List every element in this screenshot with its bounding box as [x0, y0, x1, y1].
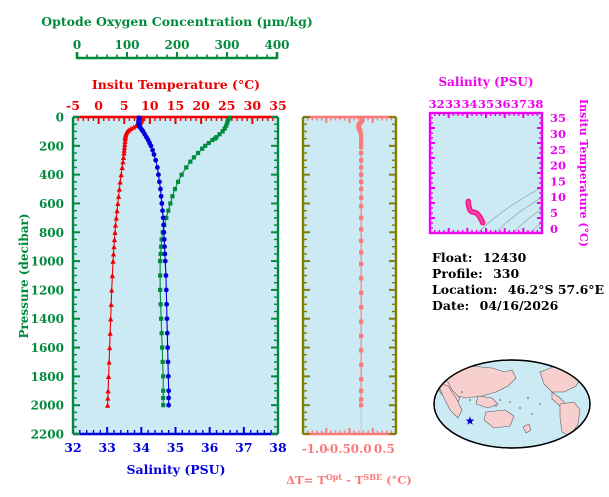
- pressure-axis-label: Pressure (decibar): [17, 213, 31, 338]
- map-island: [461, 391, 463, 393]
- float-value: 12430: [483, 250, 527, 265]
- ts-y-tick-label: 35: [550, 111, 566, 125]
- delta-marker: [359, 196, 363, 200]
- temperature-tick-label: 15: [167, 98, 184, 113]
- salinity-marker: [159, 194, 164, 199]
- map-island: [499, 399, 501, 401]
- delta-marker: [359, 216, 363, 220]
- oxygen-marker: [170, 194, 174, 198]
- profile-label: Profile:: [432, 266, 483, 281]
- oxygen-marker: [180, 173, 184, 177]
- ts-x-tick-label: 38: [527, 97, 543, 111]
- map-island: [539, 403, 541, 405]
- oxygen-marker: [158, 288, 162, 292]
- salinity-marker: [161, 230, 166, 235]
- ts-temperature-label: Insitu Temperature (°C): [577, 99, 590, 247]
- delta-marker: [359, 363, 363, 367]
- oxygen-tick-label: 400: [264, 38, 289, 52]
- oxygen-marker: [159, 252, 163, 256]
- pressure-tick-label: 1200: [31, 283, 64, 297]
- temperature-tick-label: 10: [141, 98, 159, 113]
- profile-value: 330: [493, 266, 519, 281]
- ts-y-tick-label: 20: [550, 159, 566, 173]
- delta-marker: [359, 320, 363, 324]
- salinity-marker: [162, 237, 167, 242]
- temperature-tick-label: 30: [244, 98, 262, 113]
- oxygen-marker: [210, 138, 214, 142]
- salinity-marker: [165, 331, 170, 336]
- oxygen-marker: [159, 317, 163, 321]
- ts-panel-background: [430, 113, 542, 233]
- ts-y-tick-label: 15: [550, 174, 566, 188]
- oxygen-marker: [160, 331, 164, 335]
- ts-y-tick-label: 30: [550, 127, 566, 141]
- salinity-tick-label: 34: [133, 440, 151, 455]
- main-panel-background: [73, 117, 278, 434]
- delta-marker: [359, 305, 363, 309]
- oxygen-marker: [161, 389, 165, 393]
- date-value: 04/16/2026: [480, 298, 559, 313]
- map-island: [469, 399, 471, 401]
- salinity-marker: [164, 273, 169, 278]
- map-island: [495, 405, 497, 407]
- ts-x-tick-label: 35: [478, 97, 494, 111]
- map-island: [531, 413, 533, 415]
- temperature-tick-label: 25: [218, 98, 235, 113]
- oxygen-marker: [160, 345, 164, 349]
- delta-marker: [359, 187, 363, 191]
- map-island: [519, 407, 521, 409]
- metadata-date-line: Date: 04/16/2026: [432, 298, 559, 313]
- oxygen-tick-label: 200: [164, 38, 189, 52]
- ts-x-tick-label: 32: [429, 97, 445, 111]
- salinity-marker: [164, 288, 169, 293]
- metadata-profile-line: Profile: 330: [432, 266, 519, 281]
- ts-x-tick-label: 36: [494, 97, 510, 111]
- delta-marker: [359, 334, 363, 338]
- date-label: Date:: [432, 298, 469, 313]
- salinity-marker: [152, 152, 157, 157]
- ts-x-tick-labels: 32333435363738: [429, 97, 544, 111]
- delta-marker: [359, 250, 363, 254]
- oxygen-marker: [158, 273, 162, 277]
- delta-marker: [359, 141, 363, 145]
- oxygen-tick-label: 0: [73, 38, 81, 52]
- salinity-tick-label: 36: [201, 440, 219, 455]
- delta-tick-label: -0.5: [325, 442, 351, 456]
- delta-marker: [359, 227, 363, 231]
- salinity-marker: [166, 396, 171, 401]
- temperature-tick-label: -5: [66, 98, 80, 113]
- salinity-marker: [150, 148, 155, 153]
- temperature-axis-label: Insitu Temperature (°C): [92, 77, 260, 92]
- delta-marker: [359, 262, 363, 266]
- salinity-marker: [157, 179, 162, 184]
- salinity-marker: [166, 388, 171, 393]
- delta-marker: [359, 145, 363, 149]
- temperature-tick-label: 5: [120, 98, 129, 113]
- salinity-marker: [165, 316, 170, 321]
- delta-tick-labels: -1.0-0.50.00.5: [302, 442, 395, 456]
- salinity-marker: [164, 302, 169, 307]
- salinity-marker: [153, 158, 158, 163]
- delta-marker: [359, 377, 363, 381]
- oxygen-marker: [184, 165, 188, 169]
- salinity-marker: [165, 345, 170, 350]
- profile-figure: Optode Oxygen Concentration (µm/kg) 0100…: [0, 0, 609, 497]
- salinity-marker: [161, 223, 166, 228]
- map-island: [527, 397, 529, 399]
- pressure-tick-label: 1400: [31, 312, 64, 326]
- salinity-marker: [158, 187, 163, 192]
- oxygen-marker: [173, 187, 177, 191]
- temperature-tick-label: 20: [192, 98, 210, 113]
- pressure-tick-label: 1800: [31, 370, 64, 384]
- ts-x-tick-label: 33: [445, 97, 461, 111]
- location-label: Location:: [432, 282, 497, 297]
- figure-canvas: Optode Oxygen Concentration (µm/kg) 0100…: [0, 0, 609, 497]
- metadata-location-line: Location: 46.2°S 57.6°E: [432, 282, 604, 297]
- delta-marker: [359, 137, 363, 141]
- pressure-tick-label: 1000: [31, 255, 64, 269]
- oxygen-marker: [161, 403, 165, 407]
- ts-y-tick-label: 25: [550, 143, 566, 157]
- temperature-tick-label: 35: [269, 98, 286, 113]
- oxygen-marker: [196, 151, 200, 155]
- salinity-tick-label: 35: [167, 440, 184, 455]
- oxygen-marker: [207, 141, 211, 145]
- salinity-marker: [163, 251, 168, 256]
- ts-x-tick-label: 34: [462, 97, 478, 111]
- delta-axis-label: ΔT= TOpt - TSBE (°C): [286, 472, 412, 487]
- oxygen-marker: [176, 180, 180, 184]
- oxygen-axis-label: Optode Oxygen Concentration (µm/kg): [41, 14, 312, 29]
- salinity-marker: [156, 172, 161, 177]
- oxygen-marker: [161, 396, 165, 400]
- pressure-tick-label: 1600: [31, 341, 64, 355]
- delta-panel-background: [303, 117, 396, 434]
- ts-x-tick-label: 37: [511, 97, 527, 111]
- oxygen-tick-label: 300: [214, 38, 239, 52]
- salinity-tick-label: 33: [98, 440, 115, 455]
- map-island: [509, 401, 511, 403]
- salinity-marker: [160, 208, 165, 213]
- delta-tick-label: 0.5: [374, 442, 395, 456]
- salinity-marker: [166, 374, 171, 379]
- location-value: 46.2°S 57.6°E: [508, 282, 604, 297]
- ts-y-tick-label: 5: [550, 206, 558, 220]
- delta-marker: [359, 397, 363, 401]
- salinity-marker: [163, 259, 168, 264]
- delta-marker: [359, 239, 363, 243]
- oxygen-marker: [159, 302, 163, 306]
- oxygen-marker: [192, 155, 196, 159]
- pressure-tick-label: 400: [39, 168, 64, 182]
- delta-marker: [359, 151, 363, 155]
- oxygen-tick-label: 100: [114, 38, 139, 52]
- delta-marker: [359, 158, 363, 162]
- oxygen-marker: [200, 147, 204, 151]
- oxygen-marker: [168, 201, 172, 205]
- delta-tick-label: 0.0: [351, 442, 372, 456]
- oxygen-marker: [188, 160, 192, 164]
- salinity-marker: [149, 143, 154, 148]
- delta-marker: [359, 173, 363, 177]
- salinity-marker: [162, 244, 167, 249]
- delta-marker: [359, 389, 363, 393]
- salinity-axis-label: Salinity (PSU): [126, 462, 225, 477]
- delta-marker: [359, 348, 363, 352]
- salinity-tick-label: 37: [235, 440, 252, 455]
- temperature-tick-label: 0: [94, 98, 103, 113]
- oxygen-marker: [161, 360, 165, 364]
- salinity-marker: [159, 201, 164, 206]
- salinity-marker: [161, 215, 166, 220]
- delta-marker: [359, 276, 363, 280]
- delta-marker: [359, 403, 363, 407]
- pressure-tick-label: 0: [56, 111, 64, 125]
- pressure-tick-label: 2200: [31, 428, 64, 442]
- delta-marker: [359, 204, 363, 208]
- delta-t-panel: -1.0-0.50.00.5 ΔT= TOpt - TSBE (°C): [286, 116, 412, 487]
- salinity-marker: [166, 403, 171, 408]
- oxygen-marker: [166, 209, 170, 213]
- salinity-marker: [155, 165, 160, 170]
- temperature-tick-labels: -505101520253035: [66, 98, 287, 113]
- salinity-tick-label: 38: [269, 440, 287, 455]
- salinity-marker: [166, 360, 171, 365]
- pressure-tick-label: 2000: [31, 399, 64, 413]
- oxygen-marker: [161, 374, 165, 378]
- delta-marker: [359, 291, 363, 295]
- salinity-tick-label: 32: [64, 440, 81, 455]
- ts-y-tick-label: 0: [550, 222, 558, 236]
- pressure-tick-label: 800: [39, 226, 64, 240]
- delta-marker: [359, 165, 363, 169]
- pressure-tick-label: 200: [39, 139, 64, 153]
- pressure-tick-label: 600: [39, 197, 64, 211]
- oxygen-marker: [158, 259, 162, 263]
- ts-salinity-label: Salinity (PSU): [438, 75, 533, 89]
- delta-marker: [359, 180, 363, 184]
- delta-tick-label: -1.0: [302, 442, 328, 456]
- float-label: Float:: [432, 250, 472, 265]
- ts-y-tick-label: 10: [550, 190, 566, 204]
